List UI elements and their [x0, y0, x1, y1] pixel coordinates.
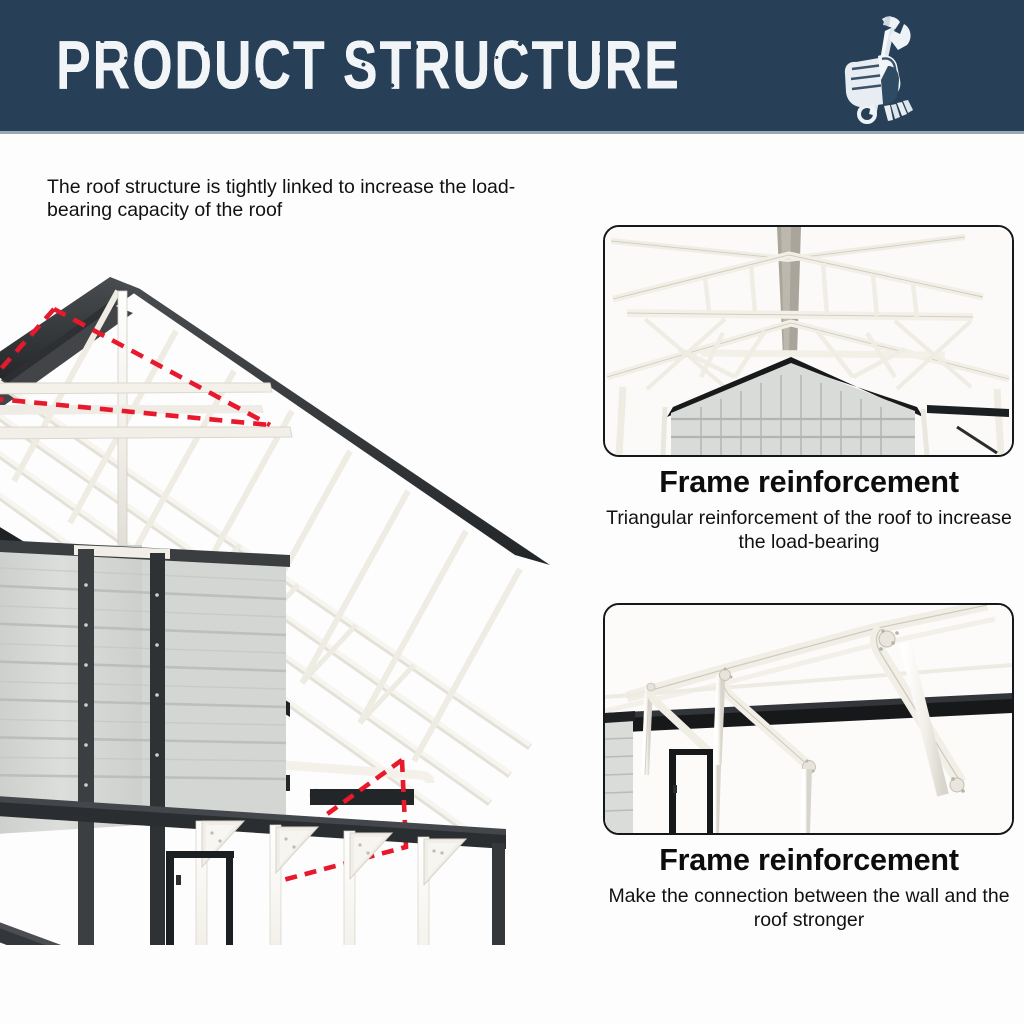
header-divider: [0, 131, 1024, 134]
callout-2-title: Frame reinforcement: [603, 843, 1015, 878]
infographic-page: PRODUCT STRUCTURE: [0, 0, 1024, 1024]
callout-1-photo-frame: [603, 225, 1014, 457]
roof-truss-interior-photo: [605, 227, 1012, 455]
callout-2-photo-frame: [603, 603, 1014, 835]
page-header: PRODUCT STRUCTURE: [0, 0, 1024, 131]
callout-frame-reinforcement-wall: Frame reinforcement Make the connection …: [603, 603, 1015, 933]
hand-holding-wrench-icon: [838, 14, 924, 126]
main-structure-photo: [0, 255, 630, 945]
wall-to-roof-bracket-photo: [605, 605, 1012, 833]
callout-1-subtitle: Triangular reinforcement of the roof to …: [603, 506, 1015, 554]
callout-frame-reinforcement-roof: Frame reinforcement Triangular reinforce…: [603, 225, 1015, 565]
callout-2-subtitle: Make the connection between the wall and…: [603, 884, 1015, 932]
page-title: PRODUCT STRUCTURE: [56, 25, 681, 104]
callout-1-title: Frame reinforcement: [603, 465, 1015, 500]
intro-text: The roof structure is tightly linked to …: [47, 176, 567, 222]
